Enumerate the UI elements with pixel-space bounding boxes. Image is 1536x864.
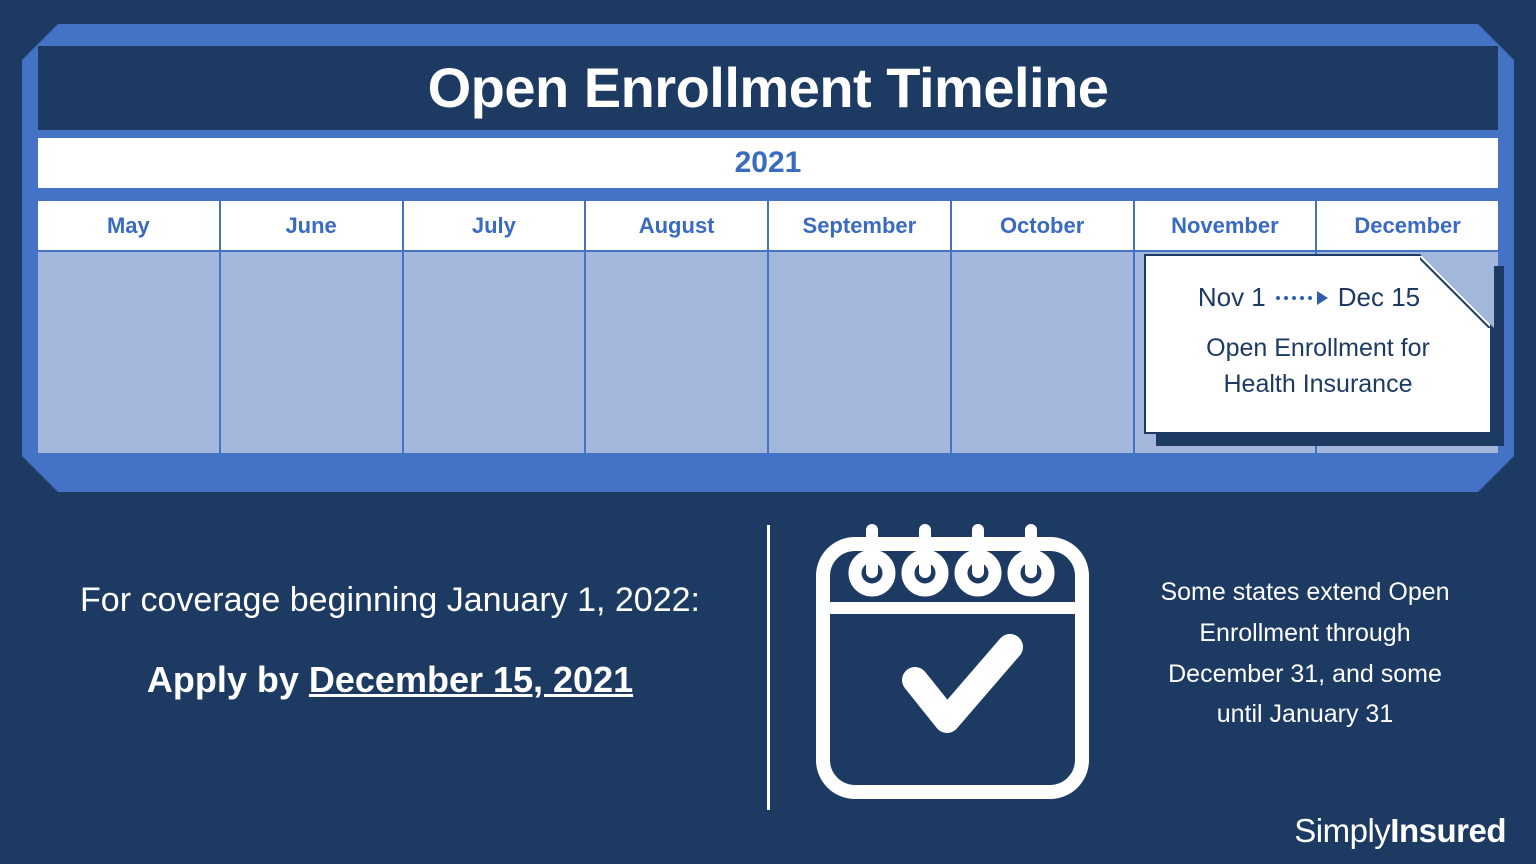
- month-column-october: October: [950, 201, 1133, 453]
- page-fold-corner-icon: [1420, 254, 1494, 328]
- apply-prefix: Apply by: [147, 659, 309, 700]
- month-column-may: May: [38, 201, 219, 453]
- simplyinsured-logo: SimplyInsured: [1294, 812, 1506, 850]
- apply-date: December 15, 2021: [309, 659, 633, 700]
- month-header: November: [1135, 201, 1316, 250]
- month-header: July: [404, 201, 585, 250]
- month-cell: [38, 250, 219, 453]
- month-header: September: [769, 201, 950, 250]
- month-header: August: [586, 201, 767, 250]
- logo-insured: Insured: [1390, 812, 1506, 849]
- infographic-canvas: Open Enrollment Timeline 2021 May June J…: [0, 0, 1536, 864]
- month-header: December: [1317, 201, 1498, 250]
- month-header: May: [38, 201, 219, 250]
- vertical-divider: [767, 525, 770, 810]
- month-cell: [586, 250, 767, 453]
- month-column-july: July: [402, 201, 585, 453]
- month-cell: [952, 250, 1133, 453]
- month-cell: [404, 250, 585, 453]
- month-column-september: September: [767, 201, 950, 453]
- state-extension-note: Some states extend Open Enrollment throu…: [1110, 572, 1500, 735]
- month-cell: [769, 250, 950, 453]
- calendar-check-icon: [815, 520, 1090, 805]
- note-line-4: until January 31: [1110, 694, 1500, 735]
- coverage-block: For coverage beginning January 1, 2022: …: [40, 580, 740, 701]
- year-label: 2021: [735, 146, 802, 180]
- month-column-august: August: [584, 201, 767, 453]
- month-header: June: [221, 201, 402, 250]
- month-header: October: [952, 201, 1133, 250]
- month-column-june: June: [219, 201, 402, 453]
- title-bar: Open Enrollment Timeline: [38, 46, 1498, 130]
- month-cell: [221, 250, 402, 453]
- note-line-1: Some states extend Open: [1110, 572, 1500, 613]
- apply-deadline: Apply by December 15, 2021: [40, 659, 740, 701]
- logo-simply: Simply: [1294, 812, 1390, 849]
- page-title: Open Enrollment Timeline: [428, 60, 1109, 116]
- coverage-text: For coverage beginning January 1, 2022:: [40, 580, 740, 621]
- note-line-3: December 31, and some: [1110, 654, 1500, 695]
- note-line-2: Enrollment through: [1110, 613, 1500, 654]
- year-bar: 2021: [38, 138, 1498, 188]
